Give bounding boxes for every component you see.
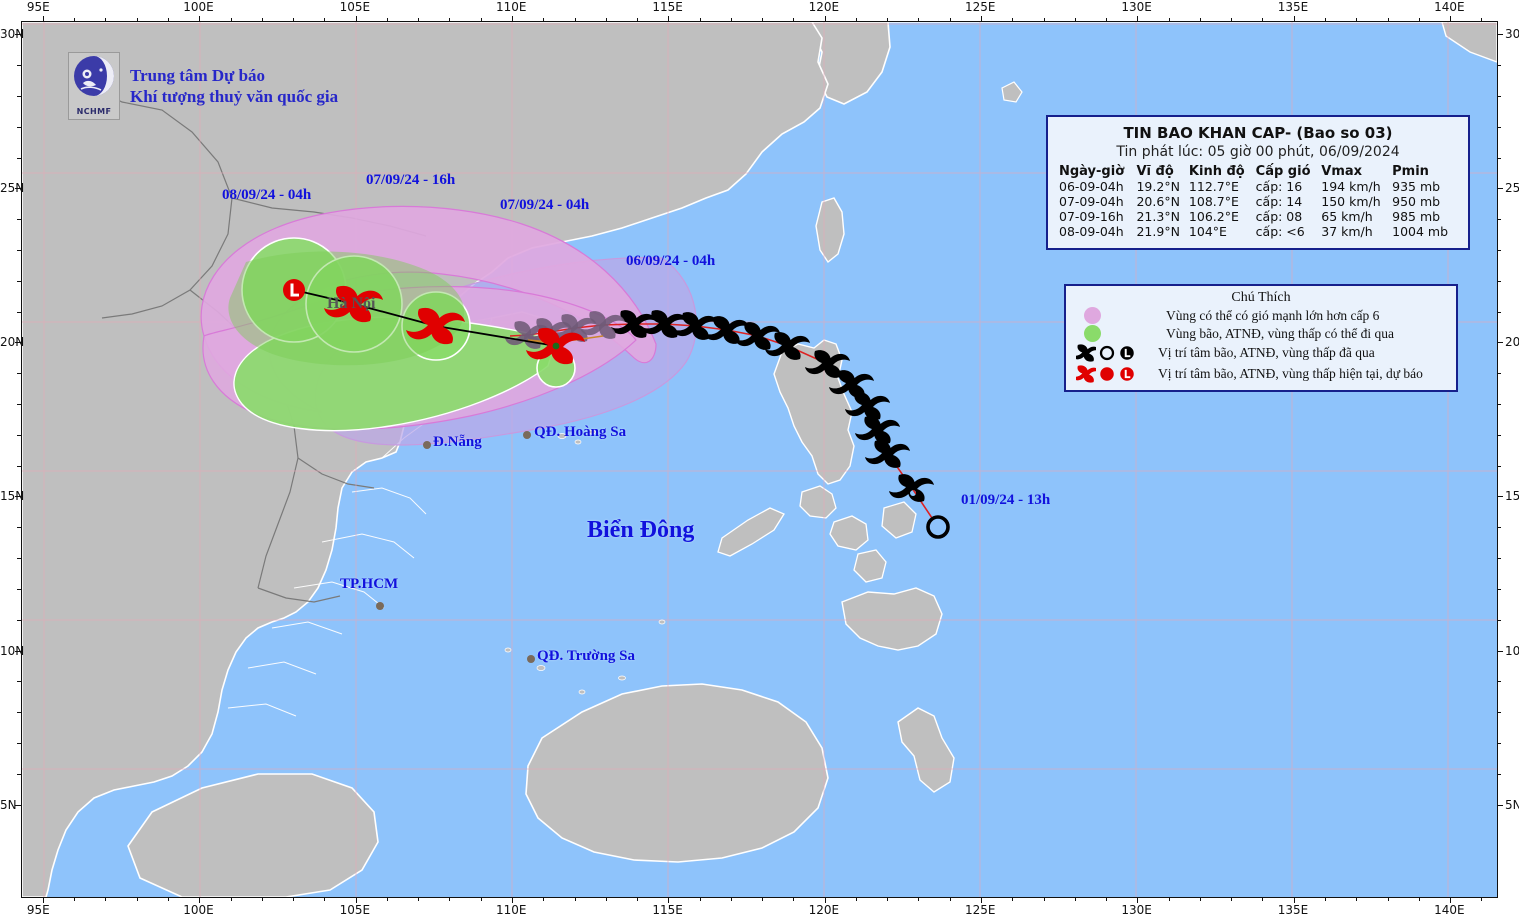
axis-minor-tick-lon <box>887 897 888 901</box>
axis-tick-lon-105E <box>356 16 357 22</box>
forecast-label-07-09-16h: 07/09/24 - 16h <box>366 172 455 189</box>
axis-minor-tick-lon <box>1012 18 1013 22</box>
axis-tick-lat-5N <box>1497 805 1503 806</box>
axis-minor-tick-lat <box>1497 373 1501 374</box>
axis-minor-tick-lon <box>1106 897 1107 901</box>
axis-label-lat-25N: 25N <box>0 181 24 195</box>
axis-minor-tick-lon <box>387 18 388 22</box>
axis-minor-tick-lat <box>17 312 21 313</box>
axis-tick-lon-115E <box>668 16 669 22</box>
axis-minor-tick-lat <box>1497 466 1501 467</box>
past-point-origin <box>928 517 948 537</box>
place-label-truongsa: QĐ. Trường Sa <box>537 648 635 665</box>
axis-minor-tick-lat <box>1497 774 1501 775</box>
axis-minor-tick-lon <box>293 18 294 22</box>
storm-symbol-fc-low <box>283 279 305 301</box>
axis-minor-tick-lon <box>231 18 232 22</box>
axis-minor-tick-lon <box>1106 18 1107 22</box>
axis-minor-tick-lat <box>17 219 21 220</box>
axis-minor-tick-lat <box>1497 712 1501 713</box>
legend-symbol-green-circle <box>1074 325 1158 342</box>
forecast-label-08-09-04h: 08/09/24 - 04h <box>222 187 311 204</box>
cell-pmin: 935 mb <box>1391 179 1458 194</box>
axis-minor-tick-lon <box>105 18 106 22</box>
axis-label-lat-10N: 10N <box>1505 644 1519 658</box>
sea-label-bien-dong: Biển Đông <box>587 517 694 544</box>
axis-minor-tick-lon <box>1200 897 1201 901</box>
axis-minor-tick-lat <box>17 435 21 436</box>
axis-minor-tick-lon <box>575 18 576 22</box>
nchmf-emblem-icon <box>71 53 117 101</box>
axis-minor-tick-lat <box>1497 589 1501 590</box>
axis-minor-tick-lon <box>793 897 794 901</box>
axis-minor-tick-lon <box>575 897 576 901</box>
storm-info-panel: TIN BAO KHAN CAP- (Bao so 03) Tin phát l… <box>1046 115 1470 250</box>
place-dot-truongsa <box>527 655 535 663</box>
axis-minor-tick-lon <box>950 897 951 901</box>
axis-label-lon-125E: 125E <box>965 0 996 14</box>
axis-minor-tick-lon <box>324 18 325 22</box>
axis-label-lat-5N: 5N <box>0 798 17 812</box>
pink-circle-icon <box>1084 307 1101 324</box>
legend-symbol-red-set <box>1074 364 1150 384</box>
black-open-circle-icon <box>1098 344 1116 362</box>
axis-minor-tick-lon <box>1388 18 1389 22</box>
nchmf-logo-icon: NCHMF <box>68 52 120 120</box>
table-row: 07-09-16h 21.3°N 106.2°E cấp: 08 65 km/h… <box>1058 209 1458 224</box>
axis-minor-tick-lon <box>1481 897 1482 901</box>
axis-minor-tick-lon <box>887 18 888 22</box>
axis-label-lon-115E: 115E <box>652 903 683 917</box>
legend-item-storm-area: Vùng bão, ATNĐ, vùng thấp có thể đi qua <box>1074 325 1448 342</box>
place-dot-tphcm <box>376 602 384 610</box>
axis-label-lat-25N: 25N <box>1505 181 1519 195</box>
axis-minor-tick-lon <box>1012 897 1013 901</box>
cell-lat: 21.3°N <box>1135 209 1187 224</box>
axis-minor-tick-lon <box>1262 18 1263 22</box>
cell-datetime: 07-09-16h <box>1058 209 1135 224</box>
legend-panel: Chú Thích Vùng có thể có gió mạnh lớn hơ… <box>1064 284 1458 392</box>
axis-minor-tick-lon <box>1169 18 1170 22</box>
axis-label-lat-15N: 15N <box>0 489 24 503</box>
axis-minor-tick-lon <box>137 897 138 901</box>
axis-minor-tick-lat <box>17 96 21 97</box>
axis-label-lat-30N: 30N <box>0 27 24 41</box>
axis-tick-lon-100E <box>199 16 200 22</box>
axis-minor-tick-lat <box>17 466 21 467</box>
axis-minor-tick-lat <box>17 527 21 528</box>
legend-item-current-positions: Vị trí tâm bão, ATNĐ, vùng thấp hiện tại… <box>1074 364 1448 384</box>
axis-minor-tick-lat <box>1497 127 1501 128</box>
axis-minor-tick-lon <box>762 18 763 22</box>
axis-minor-tick-lat <box>17 158 21 159</box>
axis-minor-tick-lat <box>1497 96 1501 97</box>
legend-symbol-pink-circle <box>1074 307 1158 324</box>
axis-minor-tick-lat <box>17 743 21 744</box>
axis-minor-tick-lon <box>74 897 75 901</box>
axis-minor-tick-lon <box>606 18 607 22</box>
axis-minor-tick-lon <box>1356 18 1357 22</box>
axis-label-lon-100E: 100E <box>183 0 214 14</box>
axis-tick-lat-25N <box>1497 188 1503 189</box>
axis-minor-tick-lat <box>17 620 21 621</box>
table-row: 06-09-04h 19.2°N 112.7°E cấp: 16 194 km/… <box>1058 179 1458 194</box>
forecast-label-01-09-13h: 01/09/24 - 13h <box>961 492 1050 509</box>
axis-minor-tick-lon <box>262 897 263 901</box>
forecast-label-06-09-04h: 06/09/24 - 04h <box>626 253 715 270</box>
axis-minor-tick-lon <box>1231 18 1232 22</box>
axis-minor-tick-lon <box>950 18 951 22</box>
cell-pmin: 985 mb <box>1391 209 1458 224</box>
place-label-tphcm: TP.HCM <box>340 576 398 593</box>
place-label-hoangsa: QĐ. Hoàng Sa <box>534 424 626 441</box>
axis-minor-tick-lat <box>1497 404 1501 405</box>
axis-minor-tick-lon <box>1419 18 1420 22</box>
black-low-icon <box>1118 344 1136 362</box>
legend-item-past-positions: Vị trí tâm bão, ATNĐ, vùng thấp đã qua <box>1074 343 1448 363</box>
col-vmax: Vmax <box>1320 164 1391 179</box>
axis-minor-tick-lat <box>17 250 21 251</box>
typhoon-track-map-page: Biển Đông Đ.Nẵng TP.HCM QĐ. Hoàng Sa QĐ.… <box>0 0 1519 919</box>
axis-label-lat-5N: 5N <box>1505 798 1519 812</box>
axis-minor-tick-lon <box>137 18 138 22</box>
axis-tick-lat-20N <box>1497 342 1503 343</box>
axis-label-lat-20N: 20N <box>1505 335 1519 349</box>
axis-minor-tick-lat <box>1497 743 1501 744</box>
axis-minor-tick-lat <box>1497 558 1501 559</box>
cell-wind: cấp: 08 <box>1255 209 1321 224</box>
axis-minor-tick-lat <box>17 558 21 559</box>
legend-label-storm-area: Vùng bão, ATNĐ, vùng thấp có thể đi qua <box>1166 326 1394 342</box>
axis-minor-tick-lon <box>293 897 294 901</box>
place-label-hanoi: Hà Nội <box>327 295 375 313</box>
col-datetime: Ngày-giờ <box>1058 164 1135 179</box>
axis-minor-tick-lat <box>17 127 21 128</box>
forecast-label-07-09-04h: 07/09/24 - 04h <box>500 197 589 214</box>
axis-minor-tick-lon <box>1200 18 1201 22</box>
col-lon: Kinh độ <box>1188 164 1255 179</box>
cell-lat: 21.9°N <box>1135 224 1187 239</box>
axis-minor-tick-lon <box>1075 897 1076 901</box>
axis-minor-tick-lat <box>1497 158 1501 159</box>
black-typhoon-icon <box>1076 343 1096 363</box>
axis-minor-tick-lon <box>1075 18 1076 22</box>
legend-label-past-positions: Vị trí tâm bão, ATNĐ, vùng thấp đã qua <box>1158 345 1375 361</box>
organization-name: Trung tâm Dự báo Khí tượng thuỷ văn quốc… <box>130 65 338 108</box>
axis-minor-tick-lon <box>1481 18 1482 22</box>
axis-label-lon-130E: 130E <box>1121 903 1152 917</box>
axis-tick-lat-15N <box>1497 496 1503 497</box>
axis-label-lon-130E: 130E <box>1121 0 1152 14</box>
axis-tick-lon-125E <box>981 16 982 22</box>
axis-minor-tick-lon <box>700 897 701 901</box>
axis-label-lon-120E: 120E <box>809 903 840 917</box>
cell-vmax: 150 km/h <box>1320 194 1391 209</box>
axis-minor-tick-lon <box>1044 18 1045 22</box>
axis-label-lon-140E: 140E <box>1434 0 1465 14</box>
axis-minor-tick-lon <box>481 897 482 901</box>
cell-lon: 108.7°E <box>1188 194 1255 209</box>
col-pmin: Pmin <box>1391 164 1458 179</box>
axis-minor-tick-lon <box>168 897 169 901</box>
axis-minor-tick-lon <box>793 18 794 22</box>
axis-tick-lat-30N <box>1497 34 1503 35</box>
axis-minor-tick-lat <box>17 65 21 66</box>
axis-label-lon-135E: 135E <box>1278 903 1309 917</box>
axis-minor-tick-lon <box>418 18 419 22</box>
axis-minor-tick-lon <box>481 18 482 22</box>
axis-minor-tick-lon <box>543 18 544 22</box>
axis-minor-tick-lon <box>449 897 450 901</box>
axis-minor-tick-lat <box>1497 527 1501 528</box>
axis-minor-tick-lon <box>324 897 325 901</box>
axis-minor-tick-lon <box>1044 897 1045 901</box>
col-wind: Cấp gió <box>1255 164 1321 179</box>
axis-minor-tick-lat <box>1497 281 1501 282</box>
axis-minor-tick-lon <box>700 18 701 22</box>
axis-minor-tick-lon <box>231 897 232 901</box>
place-dot-danang <box>423 441 431 449</box>
cell-vmax: 194 km/h <box>1320 179 1391 194</box>
axis-label-lon-125E: 125E <box>965 903 996 917</box>
axis-label-lon-105E: 105E <box>340 903 371 917</box>
axis-minor-tick-lat <box>1497 620 1501 621</box>
axis-minor-tick-lat <box>17 712 21 713</box>
cell-wind: cấp: 16 <box>1255 179 1321 194</box>
axis-minor-tick-lon <box>1388 897 1389 901</box>
axis-minor-tick-lat <box>1497 312 1501 313</box>
axis-minor-tick-lon <box>1325 18 1326 22</box>
cell-datetime: 07-09-04h <box>1058 194 1135 209</box>
axis-label-lat-15N: 15N <box>1505 489 1519 503</box>
cell-wind: cấp: 14 <box>1255 194 1321 209</box>
organization-line1: Trung tâm Dự báo <box>130 65 338 86</box>
axis-minor-tick-lon <box>762 897 763 901</box>
axis-label-lon-105E: 105E <box>340 0 371 14</box>
table-row: 07-09-04h 20.6°N 108.7°E cấp: 14 150 km/… <box>1058 194 1458 209</box>
place-dot-hoangsa <box>523 431 531 439</box>
cell-lon: 112.7°E <box>1188 179 1255 194</box>
axis-minor-tick-lon <box>1262 897 1263 901</box>
axis-minor-tick-lat <box>1497 250 1501 251</box>
axis-tick-lon-95E <box>43 16 44 22</box>
red-low-icon <box>1118 365 1136 383</box>
axis-minor-tick-lon <box>637 18 638 22</box>
organization-line2: Khí tượng thuỷ văn quốc gia <box>130 86 338 107</box>
axis-minor-tick-lat <box>1497 219 1501 220</box>
axis-label-lon-100E: 100E <box>183 903 214 917</box>
axis-minor-tick-lat <box>17 681 21 682</box>
axis-minor-tick-lat <box>1497 65 1501 66</box>
forecast-table: Ngày-giờ Vĩ độ Kinh độ Cấp gió Vmax Pmin… <box>1058 164 1458 239</box>
info-panel-title: TIN BAO KHAN CAP- (Bao so 03) <box>1058 124 1458 142</box>
axis-label-lon-115E: 115E <box>652 0 683 14</box>
axis-minor-tick-lon <box>731 18 732 22</box>
legend-title: Chú Thích <box>1074 290 1448 306</box>
col-lat: Vĩ độ <box>1135 164 1187 179</box>
axis-minor-tick-lon <box>637 897 638 901</box>
axis-minor-tick-lon <box>543 897 544 901</box>
place-label-danang: Đ.Nẵng <box>433 434 482 451</box>
axis-frame-top <box>21 21 1498 22</box>
cell-wind: cấp: <6 <box>1255 224 1321 239</box>
axis-minor-tick-lon <box>1231 897 1232 901</box>
nchmf-logo-block: NCHMF Trung tâm Dự báo Khí tượng thuỷ vă… <box>68 52 338 120</box>
axis-minor-tick-lon <box>1169 897 1170 901</box>
axis-minor-tick-lon <box>105 897 106 901</box>
green-circle-icon <box>1084 325 1101 342</box>
legend-label-gale-area: Vùng có thể có gió mạnh lớn hơn cấp 6 <box>1166 308 1379 324</box>
info-panel-subtitle: Tin phát lúc: 05 giờ 00 phút, 06/09/2024 <box>1058 144 1458 160</box>
axis-label-lat-10N: 10N <box>0 644 24 658</box>
axis-minor-tick-lon <box>1325 897 1326 901</box>
axis-frame-left <box>21 22 22 897</box>
axis-label-lon-110E: 110E <box>496 903 527 917</box>
axis-minor-tick-lat <box>17 404 21 405</box>
axis-label-lon-140E: 140E <box>1434 903 1465 917</box>
axis-tick-lon-135E <box>1294 16 1295 22</box>
axis-minor-tick-lat <box>1497 435 1501 436</box>
legend-item-gale-area: Vùng có thể có gió mạnh lớn hơn cấp 6 <box>1074 307 1448 324</box>
axis-tick-lon-140E <box>1450 16 1451 22</box>
cell-pmin: 950 mb <box>1391 194 1458 209</box>
red-typhoon-icon <box>1076 364 1096 384</box>
axis-minor-tick-lon <box>856 18 857 22</box>
axis-frame-bottom <box>21 897 1498 898</box>
axis-tick-lon-120E <box>825 16 826 22</box>
forecast-table-header-row: Ngày-giờ Vĩ độ Kinh độ Cấp gió Vmax Pmin <box>1058 164 1458 179</box>
cell-datetime: 06-09-04h <box>1058 179 1135 194</box>
axis-minor-tick-lon <box>418 897 419 901</box>
axis-label-lon-120E: 120E <box>809 0 840 14</box>
axis-minor-tick-lon <box>918 897 919 901</box>
table-row: 08-09-04h 21.9°N 104°E cấp: <6 37 km/h 1… <box>1058 224 1458 239</box>
axis-label-lon-95E: 95E <box>27 0 50 14</box>
axis-minor-tick-lon <box>606 897 607 901</box>
cell-lat: 20.6°N <box>1135 194 1187 209</box>
axis-minor-tick-lon <box>262 18 263 22</box>
cell-vmax: 65 km/h <box>1320 209 1391 224</box>
axis-tick-lat-10N <box>1497 651 1503 652</box>
axis-minor-tick-lat <box>17 774 21 775</box>
axis-minor-tick-lon <box>74 18 75 22</box>
axis-minor-tick-lat <box>17 373 21 374</box>
axis-minor-tick-lon <box>1356 897 1357 901</box>
axis-minor-tick-lat <box>17 589 21 590</box>
axis-label-lon-95E: 95E <box>27 903 50 917</box>
axis-minor-tick-lon <box>168 18 169 22</box>
axis-label-lat-30N: 30N <box>1505 27 1519 41</box>
axis-label-lon-135E: 135E <box>1278 0 1309 14</box>
legend-symbol-black-set <box>1074 343 1150 363</box>
axis-minor-tick-lat <box>1497 681 1501 682</box>
axis-minor-tick-lon <box>731 897 732 901</box>
axis-minor-tick-lat <box>17 281 21 282</box>
axis-frame-right <box>1497 22 1498 897</box>
red-filled-circle-icon <box>1098 365 1116 383</box>
cell-vmax: 37 km/h <box>1320 224 1391 239</box>
axis-tick-lon-130E <box>1137 16 1138 22</box>
axis-minor-tick-lon <box>449 18 450 22</box>
cell-lon: 104°E <box>1188 224 1255 239</box>
axis-tick-lon-110E <box>512 16 513 22</box>
cell-lon: 106.2°E <box>1188 209 1255 224</box>
axis-label-lon-110E: 110E <box>496 0 527 14</box>
axis-minor-tick-lon <box>918 18 919 22</box>
cell-datetime: 08-09-04h <box>1058 224 1135 239</box>
axis-minor-tick-lon <box>387 897 388 901</box>
axis-minor-tick-lon <box>856 897 857 901</box>
cell-pmin: 1004 mb <box>1391 224 1458 239</box>
cell-lat: 19.2°N <box>1135 179 1187 194</box>
axis-minor-tick-lon <box>1419 897 1420 901</box>
legend-label-current-positions: Vị trí tâm bão, ATNĐ, vùng thấp hiện tại… <box>1158 366 1423 382</box>
axis-label-lat-20N: 20N <box>0 335 24 349</box>
nchmf-logo-caption: NCHMF <box>77 107 112 116</box>
